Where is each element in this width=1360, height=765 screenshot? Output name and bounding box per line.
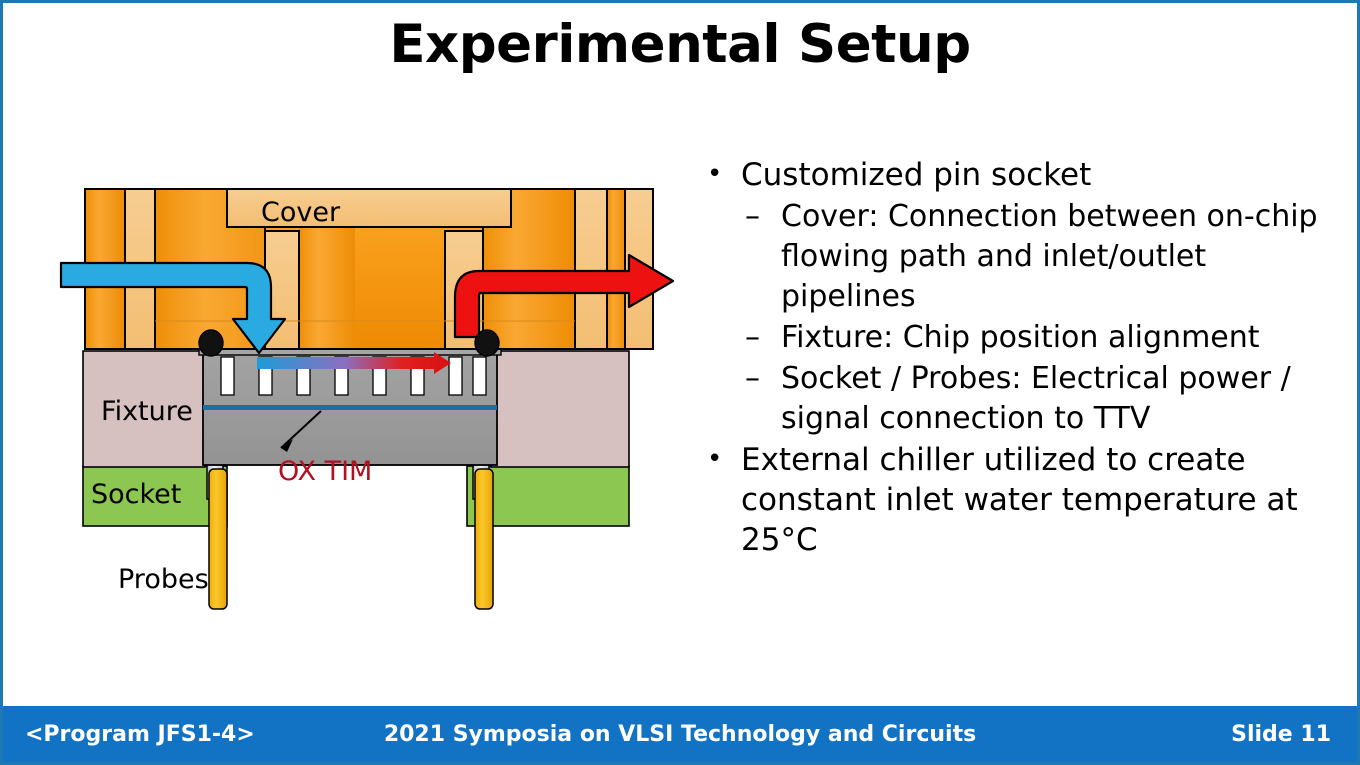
diagram-label-probes: Probes — [118, 564, 209, 595]
ox-tim-layer — [203, 405, 497, 410]
bullet-item-level2: – Socket / Probes: Electrical power / si… — [697, 359, 1347, 439]
bullet-text: Cover: Connection between on-chip flowin… — [781, 197, 1347, 317]
bullet-marker: • — [697, 440, 741, 561]
bullet-list: • Customized pin socket – Cover: Connect… — [697, 155, 1347, 563]
bullet-marker: – — [745, 318, 781, 358]
bullet-item-level1: • Customized pin socket — [697, 155, 1347, 195]
footer-slide-number: Slide 11 — [1231, 706, 1331, 762]
bullet-marker: • — [697, 155, 741, 195]
slide-canvas: Experimental Setup — [0, 0, 1360, 765]
bullet-text: Customized pin socket — [741, 155, 1347, 195]
diagram-label-cover: Cover — [261, 197, 340, 228]
bullet-item-level2: – Fixture: Chip position alignment — [697, 318, 1347, 358]
bullet-marker: – — [745, 359, 781, 439]
bullet-text: External chiller utilized to create cons… — [741, 440, 1347, 561]
page-title: Experimental Setup — [3, 17, 1357, 73]
bullet-item-level2: – Cover: Connection between on-chip flow… — [697, 197, 1347, 317]
diagram-label-ox-tim: OX TIM — [278, 456, 372, 487]
bullet-item-level1: • External chiller utilized to create co… — [697, 440, 1347, 561]
bullet-text: Socket / Probes: Electrical power / sign… — [781, 359, 1347, 439]
bullet-marker: – — [745, 197, 781, 317]
diagram-label-fixture: Fixture — [101, 396, 193, 427]
diagram-label-socket: Socket — [91, 479, 181, 510]
bullet-text: Fixture: Chip position alignment — [781, 318, 1347, 358]
slide-footer: <Program JFS1-4> 2021 Symposia on VLSI T… — [3, 706, 1357, 762]
footer-conference: 2021 Symposia on VLSI Technology and Cir… — [3, 706, 1357, 762]
